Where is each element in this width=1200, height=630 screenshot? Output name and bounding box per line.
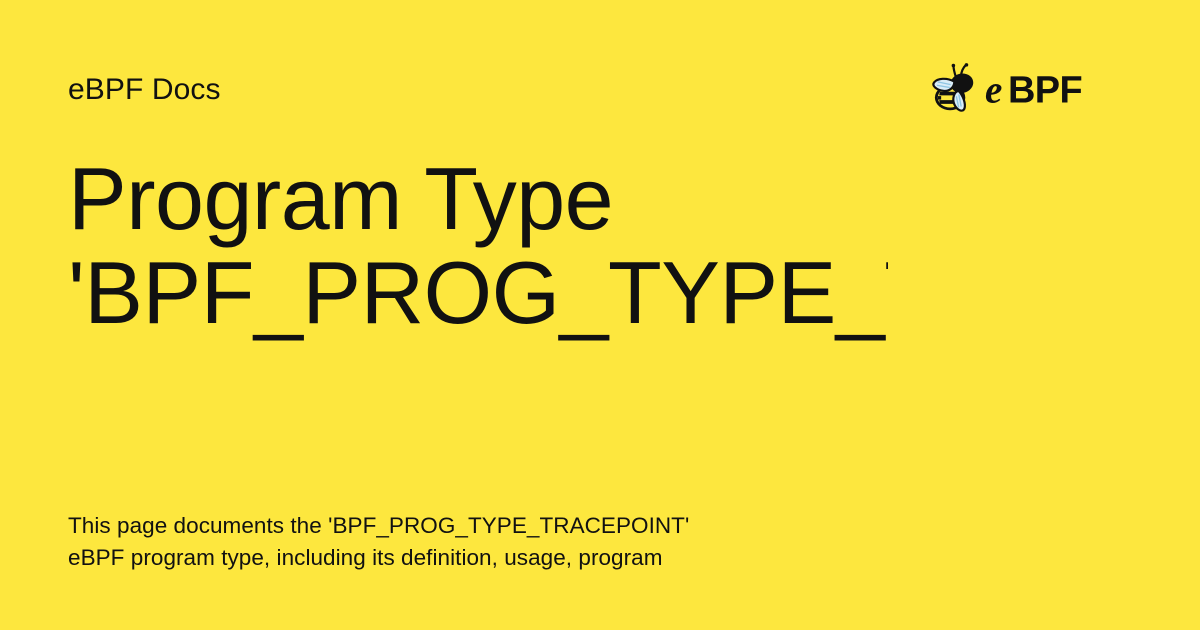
page-title-line-1: Program Type [68,152,888,246]
svg-text:e: e [985,69,1002,112]
og-preview-card: eBPF Docs [0,0,1200,630]
page-title-container: Program Type 'BPF_PROG_TYPE_TRACEPOINT' [68,152,888,402]
svg-text:BPF: BPF [1008,70,1082,112]
page-title-line-2: 'BPF_PROG_TYPE_TRACEPOINT' [68,246,888,340]
page-description-container: This page documents the 'BPF_PROG_TYPE_T… [68,510,878,576]
card-header: eBPF Docs [68,58,1132,122]
page-title: Program Type 'BPF_PROG_TYPE_TRACEPOINT' [68,152,888,340]
ebpf-wordmark: e BPF [985,67,1132,113]
page-description-line-1: This page documents the 'BPF_PROG_TYPE_T… [68,510,878,542]
page-description: This page documents the 'BPF_PROG_TYPE_T… [68,510,878,574]
ebpf-logo: e BPF [929,61,1132,119]
site-name: eBPF Docs [68,75,221,105]
page-description-line-2: eBPF program type, including its definit… [68,542,878,574]
bee-icon [929,63,983,117]
